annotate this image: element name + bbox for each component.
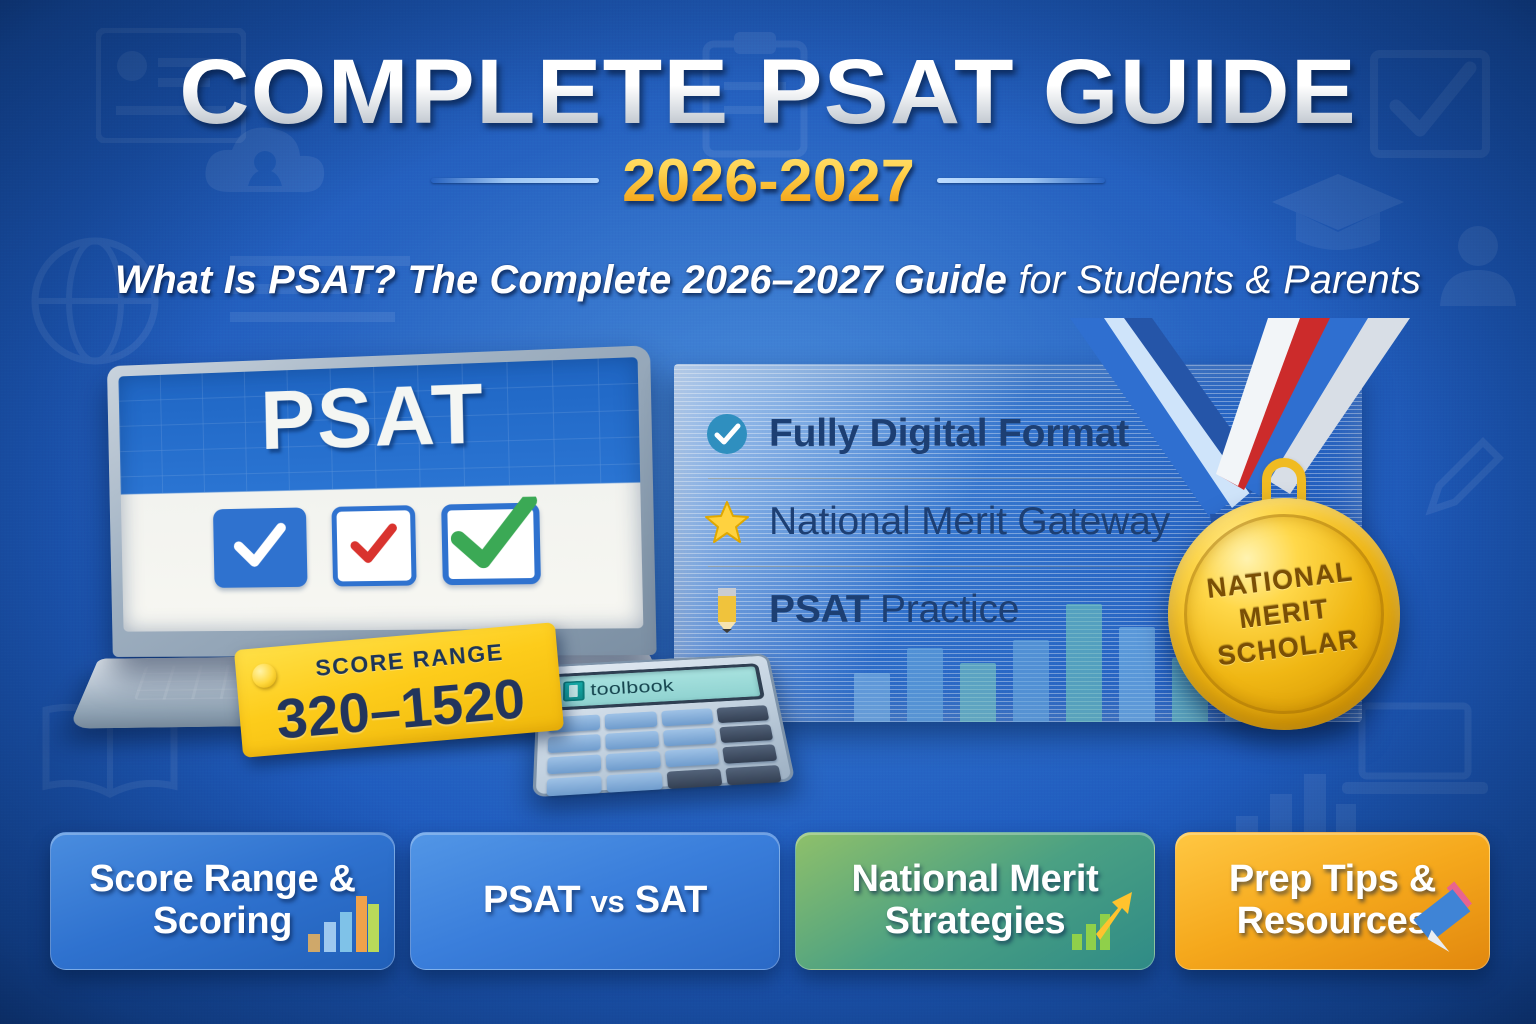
button-score-range-scoring[interactable]: Score Range & Scoring bbox=[50, 832, 395, 970]
subtitle-lead: What Is PSAT? The Complete 2026–2027 Gui… bbox=[115, 258, 1007, 302]
pencil-icon bbox=[1413, 878, 1475, 957]
calculator-key bbox=[606, 731, 659, 750]
screen-psat-label: PSAT bbox=[118, 359, 639, 472]
trend-arrow-icon bbox=[1070, 888, 1140, 957]
pencil-icon bbox=[704, 587, 750, 633]
calculator-display: toolbook bbox=[549, 663, 765, 711]
screen-checkbox-row bbox=[121, 501, 642, 590]
calculator-illustration: toolbook bbox=[532, 653, 795, 797]
medal-line-1: NATIONAL bbox=[1205, 556, 1355, 605]
calculator-key bbox=[607, 772, 663, 793]
button-prep-tips-resources[interactable]: Prep Tips & Resources bbox=[1175, 832, 1490, 970]
calculator-brand-label: toolbook bbox=[590, 676, 675, 700]
page-subtitle: What Is PSAT? The Complete 2026–2027 Gui… bbox=[8, 258, 1529, 303]
calculator-key bbox=[719, 724, 773, 743]
calculator-key bbox=[722, 744, 778, 764]
check-circle-icon bbox=[704, 411, 750, 457]
button-line-1: Prep Tips & bbox=[1229, 858, 1436, 900]
laptop-screen: PSAT bbox=[118, 357, 643, 632]
button-line-2: Strategies bbox=[885, 900, 1066, 942]
feature-label-rest: Practice bbox=[869, 588, 1019, 631]
calculator-key bbox=[664, 748, 719, 768]
calculator-key bbox=[606, 751, 660, 771]
button-line-2: Scoring bbox=[153, 900, 292, 942]
subtitle-tail: for Students & Parents bbox=[1007, 258, 1421, 302]
calculator-key bbox=[725, 765, 782, 785]
medal-inscription: NATIONAL MERIT SCHOLAR bbox=[1155, 485, 1414, 744]
star-icon bbox=[704, 499, 750, 545]
feature-label: PSAT Practice bbox=[769, 588, 1019, 632]
title-rule-right bbox=[937, 178, 1105, 183]
bar-chart-icon bbox=[306, 890, 380, 957]
page-title: COMPLETE PSAT GUIDE bbox=[0, 46, 1536, 140]
button-line-1: PSAT bbox=[483, 879, 580, 921]
year-row: 2026-2027 bbox=[0, 146, 1536, 215]
medal-line-3: SCHOLAR bbox=[1216, 624, 1361, 672]
button-line-2: SAT bbox=[635, 879, 707, 921]
button-line-mid: vs bbox=[591, 884, 625, 919]
calculator-key bbox=[662, 728, 716, 747]
title-rule-left bbox=[431, 178, 599, 183]
year-label: 2026-2027 bbox=[622, 146, 915, 215]
laptop-lid: PSAT bbox=[107, 345, 657, 657]
feature-label-bold: PSAT bbox=[769, 588, 869, 631]
calculator-keypad bbox=[547, 705, 782, 796]
button-national-merit-strategies[interactable]: National Merit Strategies bbox=[795, 832, 1155, 970]
checkbox-filled-white-check-icon bbox=[213, 508, 308, 588]
calculator-key bbox=[547, 754, 601, 774]
toolbook-logo-icon bbox=[563, 681, 585, 702]
category-button-row: Score Range & Scoring PSAT vs SAT Nation… bbox=[0, 832, 1536, 972]
button-line-1: National Merit bbox=[851, 858, 1098, 900]
calculator-key bbox=[605, 711, 657, 729]
button-psat-vs-sat[interactable]: PSAT vs SAT bbox=[410, 832, 780, 970]
infographic-canvas: COMPLETE PSAT GUIDE 2026-2027 What Is PS… bbox=[0, 0, 1536, 1024]
header-block: COMPLETE PSAT GUIDE 2026-2027 bbox=[0, 46, 1536, 215]
button-line-2: Resources bbox=[1237, 900, 1429, 942]
calculator-key bbox=[661, 708, 714, 726]
checkbox-outline-red-check-icon bbox=[331, 505, 416, 586]
checkbox-outline-green-check-icon bbox=[441, 503, 541, 586]
calculator-key bbox=[548, 734, 601, 753]
calculator-key bbox=[547, 776, 602, 797]
national-merit-medal: NATIONAL MERIT SCHOLAR bbox=[1168, 498, 1400, 730]
button-label: PSAT vs SAT bbox=[469, 880, 721, 922]
calculator-key bbox=[666, 769, 722, 790]
calculator-key bbox=[716, 705, 769, 723]
